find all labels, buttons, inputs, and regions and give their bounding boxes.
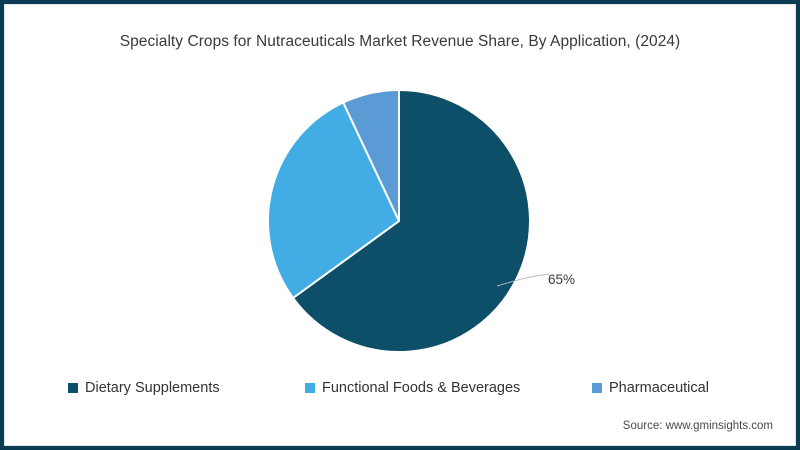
- legend-item-pharmaceutical[interactable]: Pharmaceutical: [592, 379, 709, 397]
- legend-swatch-icon: [592, 383, 602, 393]
- legend-item-functional-foods-and-beverages[interactable]: Functional Foods & Beverages: [305, 379, 520, 397]
- legend-item-label: Pharmaceutical: [609, 379, 709, 397]
- legend-item-label: Dietary Supplements: [85, 379, 220, 397]
- legend-item-label: Functional Foods & Beverages: [322, 379, 520, 397]
- pie-chart: [268, 90, 530, 352]
- legend-swatch-icon: [305, 383, 315, 393]
- chart-screenshot: Specialty Crops for Nutraceuticals Marke…: [0, 0, 800, 450]
- legend-item-dietary-supplements[interactable]: Dietary Supplements: [68, 379, 220, 397]
- slice-value-label: 65%: [548, 272, 575, 287]
- legend-swatch-icon: [68, 383, 78, 393]
- page-title: Specialty Crops for Nutraceuticals Marke…: [0, 33, 800, 51]
- chart-legend: Dietary Supplements Functional Foods & B…: [62, 379, 738, 401]
- callout-leader-line: [495, 268, 551, 294]
- pie-chart-svg: [268, 90, 530, 352]
- source-note: Source: www.gminsights.com: [623, 420, 773, 432]
